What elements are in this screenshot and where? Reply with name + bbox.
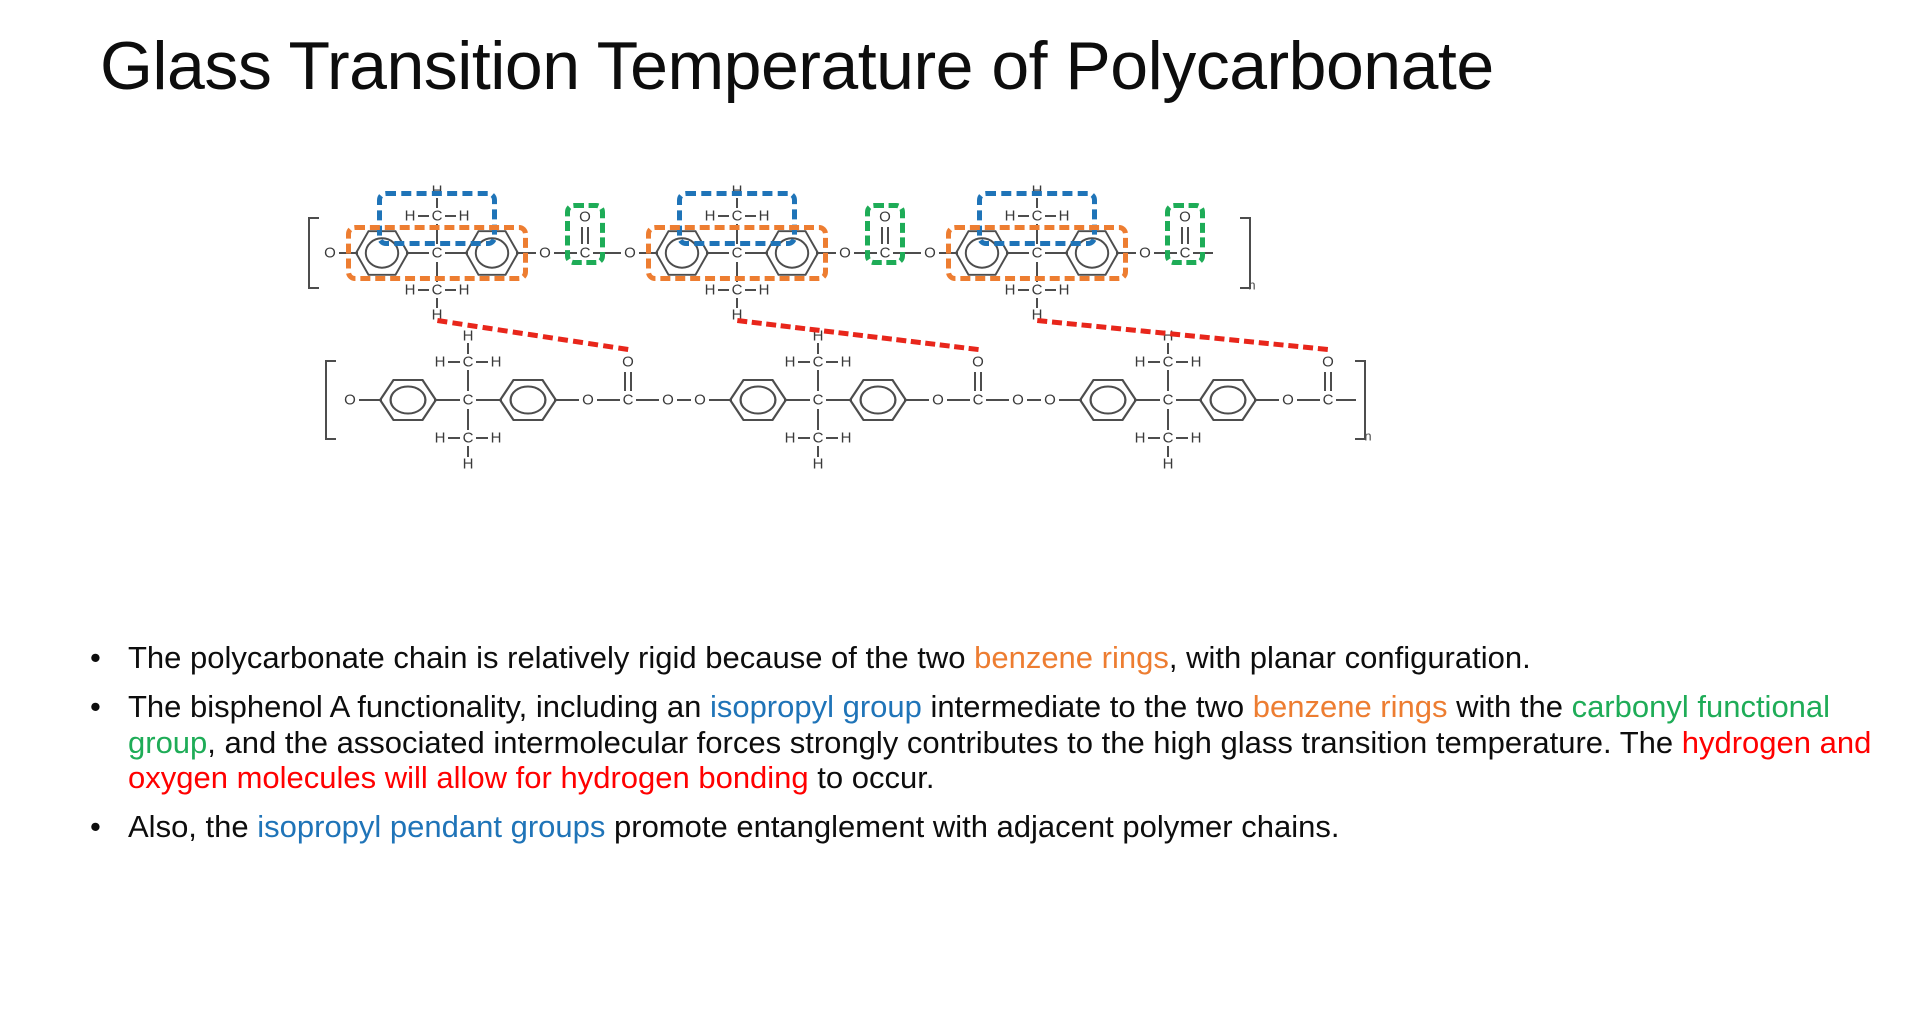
bond-h-c [1148, 361, 1160, 363]
atom-carbon-methyl: C [813, 355, 824, 370]
bond-c-h [1167, 446, 1169, 457]
bond-o-c [947, 399, 970, 401]
bond-o-c [1297, 399, 1320, 401]
bullet-text: with the [1448, 689, 1572, 724]
slide: Glass Transition Temperature of Polycarb… [0, 0, 1920, 1017]
atom-carbon-carbonyl: C [880, 246, 891, 261]
bullet-item: •The polycarbonate chain is relatively r… [82, 640, 1872, 675]
atom-carbon-quaternary: C [732, 246, 743, 261]
bullet-marker: • [90, 809, 101, 844]
atom-hydrogen: H [705, 283, 716, 298]
bond-ring-o [554, 399, 579, 401]
atom-carbon-quaternary: C [463, 393, 474, 408]
atom-hydrogen: H [1032, 184, 1043, 199]
atom-hydrogen: H [759, 283, 770, 298]
bond-c-o-next [1193, 252, 1213, 254]
page-title: Glass Transition Temperature of Polycarb… [100, 28, 1860, 104]
atom-hydrogen: H [405, 209, 416, 224]
bond-c-c [1036, 262, 1038, 282]
bond-double-a [581, 227, 583, 244]
benzene-ring [379, 378, 437, 422]
bond-c-h [1176, 437, 1188, 439]
benzene-ring [729, 378, 787, 422]
atom-carbon-methyl: C [432, 283, 443, 298]
atom-carbon-carbonyl: C [580, 246, 591, 261]
bond-o-c [1154, 252, 1177, 254]
atom-hydrogen: H [732, 184, 743, 199]
bond-c-c [467, 409, 469, 430]
bond-h-c [817, 343, 819, 354]
bond-c-h [745, 215, 756, 217]
bond-c-c [817, 409, 819, 430]
atom-hydrogen: H [813, 457, 824, 472]
atom-hydrogen: H [463, 329, 474, 344]
bond-c-h [467, 446, 469, 457]
bond-c-h [817, 446, 819, 457]
atom-carbon-methyl: C [732, 283, 743, 298]
bullet-text-highlight: benzene rings [1253, 689, 1448, 724]
benzene-ring [765, 229, 819, 277]
atom-carbon-carbonyl: C [1323, 393, 1334, 408]
bullet-text-highlight: isopropyl pendant groups [257, 809, 605, 844]
atom-oxygen-carbonyl: O [579, 210, 591, 225]
bond-ring-c [406, 252, 429, 254]
bond-c-o-next [893, 252, 921, 254]
bond-double-b [1330, 372, 1332, 391]
bond-o-c [554, 252, 577, 254]
bond-h-c [448, 361, 460, 363]
bond-ring-o [816, 252, 836, 254]
benzene-ring [1079, 378, 1137, 422]
atom-oxygen-ether: O [624, 246, 636, 261]
bond-c-c [467, 370, 469, 391]
bond-h-c [467, 343, 469, 354]
atom-hydrogen: H [759, 209, 770, 224]
benzene-ring [1065, 229, 1119, 277]
bullet-text: , with planar configuration. [1169, 640, 1531, 675]
atom-hydrogen: H [1191, 431, 1202, 446]
bond-h-c [448, 437, 460, 439]
bond-c-h [445, 289, 456, 291]
bond-o-c [597, 399, 620, 401]
atom-carbon-methyl: C [463, 355, 474, 370]
atom-hydrogen: H [491, 355, 502, 370]
benzene-ring [849, 378, 907, 422]
bond-double-b [1187, 227, 1189, 244]
bullet-text: to occur. [809, 760, 935, 795]
bond-ring-c [1134, 399, 1160, 401]
bond-c-o-next [593, 252, 621, 254]
atom-hydrogen: H [463, 457, 474, 472]
repeat-subscript-n: n [1364, 429, 1371, 444]
bond-h-c [418, 289, 429, 291]
bond-c-h [436, 298, 438, 308]
bullet-item: •Also, the isopropyl pendant groups prom… [82, 809, 1872, 844]
bond-ring-o [516, 252, 536, 254]
bond-double-a [974, 372, 976, 391]
atom-carbon-methyl: C [813, 431, 824, 446]
benzene-ring [1199, 378, 1257, 422]
benzene-ring [465, 229, 519, 277]
atom-hydrogen: H [432, 184, 443, 199]
atom-hydrogen: H [1059, 209, 1070, 224]
atom-carbon-quaternary: C [813, 393, 824, 408]
bond-c-c [736, 262, 738, 282]
atom-hydrogen: H [1135, 431, 1146, 446]
bond-ring-c [784, 399, 810, 401]
bond-h-c [1148, 437, 1160, 439]
bond-ring-o [904, 399, 929, 401]
atom-carbon-quaternary: C [1032, 246, 1043, 261]
atom-hydrogen: H [785, 431, 796, 446]
bullet-text: promote entanglement with adjacent polym… [605, 809, 1339, 844]
bond-h-c [798, 361, 810, 363]
bond-c-c [436, 224, 438, 244]
bond-h-c [1167, 343, 1169, 354]
atom-oxygen-ether: O [694, 393, 706, 408]
bond-ring-c [434, 399, 460, 401]
atom-oxygen-ether: O [582, 393, 594, 408]
bond-c-h [745, 289, 756, 291]
bond-c-h [476, 361, 488, 363]
bond-c-h [826, 437, 838, 439]
bond-c-c [1167, 409, 1169, 430]
bond-c-h [826, 361, 838, 363]
atom-hydrogen: H [435, 355, 446, 370]
bullet-list: •The polycarbonate chain is relatively r… [82, 640, 1872, 859]
atom-oxygen-carbonyl: O [622, 355, 634, 370]
atom-oxygen-carbonyl: O [1322, 355, 1334, 370]
polymer-bracket-open-bottom [325, 360, 336, 440]
atom-carbon-methyl: C [1163, 355, 1174, 370]
atom-oxygen-ether: O [1139, 246, 1151, 261]
bond-double-a [881, 227, 883, 244]
bond-double-a [624, 372, 626, 391]
bond-h-c [718, 289, 729, 291]
atom-carbon-methyl: C [1032, 209, 1043, 224]
bond-c-h [1176, 361, 1188, 363]
atom-oxygen-carbonyl: O [879, 210, 891, 225]
bond-o-o [677, 399, 691, 401]
atom-oxygen-carbonyl: O [1179, 210, 1191, 225]
atom-hydrogen: H [1005, 283, 1016, 298]
hydrogen-bond-dashed [1037, 318, 1328, 352]
atom-hydrogen: H [491, 431, 502, 446]
bond-h-c [1018, 215, 1029, 217]
bond-double-b [980, 372, 982, 391]
atom-carbon-methyl: C [1163, 431, 1174, 446]
atom-oxygen-ether: O [662, 393, 674, 408]
bond-c-c [436, 262, 438, 282]
polycarbonate-structure-figure: OCOHCHHHCHHCOOCOHCHHHCHHCOOCOHCHHHCHHCOn… [0, 150, 1920, 610]
atom-hydrogen: H [1059, 283, 1070, 298]
bullet-text-highlight: benzene rings [974, 640, 1169, 675]
bond-h-c [1018, 289, 1029, 291]
bond-double-b [887, 227, 889, 244]
bond-c-o [636, 399, 659, 401]
atom-carbon-methyl: C [732, 209, 743, 224]
bond-o-o [1027, 399, 1041, 401]
bond-double-a [1324, 372, 1326, 391]
atom-oxygen-ether: O [1012, 393, 1024, 408]
atom-carbon-carbonyl: C [623, 393, 634, 408]
bond-c-h [1036, 298, 1038, 308]
benzene-ring [499, 378, 557, 422]
atom-hydrogen: H [1005, 209, 1016, 224]
atom-hydrogen: H [435, 431, 446, 446]
bond-ring-c [1006, 252, 1029, 254]
bond-ring-o [1116, 252, 1136, 254]
atom-carbon-quaternary: C [1163, 393, 1174, 408]
atom-oxygen-ether: O [932, 393, 944, 408]
atom-carbon-carbonyl: C [1180, 246, 1191, 261]
bond-c-h [1045, 215, 1056, 217]
bond-c-h [1045, 289, 1056, 291]
atom-oxygen-ether: O [344, 393, 356, 408]
bullet-marker: • [90, 689, 101, 724]
hydrogen-bond-dashed [737, 318, 979, 352]
bond-o-c [854, 252, 877, 254]
atom-hydrogen: H [459, 283, 470, 298]
bond-c-c [1036, 224, 1038, 244]
atom-oxygen-ether: O [839, 246, 851, 261]
bond-double-a [1181, 227, 1183, 244]
bond-c-c [1167, 370, 1169, 391]
atom-hydrogen: H [1163, 457, 1174, 472]
benzene-ring [355, 229, 409, 277]
atom-oxygen-ether: O [1044, 393, 1056, 408]
bullet-item: •The bisphenol A functionality, includin… [82, 689, 1872, 795]
atom-hydrogen: H [459, 209, 470, 224]
atom-oxygen-ether: O [924, 246, 936, 261]
atom-oxygen-ether: O [324, 246, 336, 261]
atom-carbon-quaternary: C [432, 246, 443, 261]
atom-hydrogen: H [1191, 355, 1202, 370]
bullet-text: intermediate to the two [922, 689, 1253, 724]
atom-carbon-methyl: C [463, 431, 474, 446]
bond-h-c [418, 215, 429, 217]
atom-hydrogen: H [405, 283, 416, 298]
atom-hydrogen: H [705, 209, 716, 224]
bullet-text-highlight: isopropyl group [710, 689, 922, 724]
atom-hydrogen: H [841, 431, 852, 446]
benzene-ring [955, 229, 1009, 277]
atom-oxygen-carbonyl: O [972, 355, 984, 370]
bullet-marker: • [90, 640, 101, 675]
bullet-text: The polycarbonate chain is relatively ri… [128, 640, 974, 675]
bond-h-c [436, 198, 438, 208]
atom-oxygen-ether: O [1282, 393, 1294, 408]
bond-c-c [817, 370, 819, 391]
bond-double-b [587, 227, 589, 244]
bond-h-c [736, 198, 738, 208]
atom-carbon-carbonyl: C [973, 393, 984, 408]
polymer-bracket-open-top [308, 217, 319, 289]
bond-h-c [798, 437, 810, 439]
bond-ring-o [1254, 399, 1279, 401]
bullet-text: Also, the [128, 809, 257, 844]
atom-hydrogen: H [785, 355, 796, 370]
bullet-text: , and the associated intermolecular forc… [207, 725, 1681, 760]
bond-c-terminal [1336, 399, 1356, 401]
benzene-ring [655, 229, 709, 277]
bond-double-b [630, 372, 632, 391]
repeat-subscript-n: n [1248, 278, 1255, 293]
atom-oxygen-ether: O [539, 246, 551, 261]
bond-c-h [445, 215, 456, 217]
atom-hydrogen: H [1135, 355, 1146, 370]
atom-carbon-methyl: C [432, 209, 443, 224]
bond-c-h [736, 298, 738, 308]
bond-c-c [736, 224, 738, 244]
bond-ring-c [706, 252, 729, 254]
bond-h-c [718, 215, 729, 217]
bond-c-h [476, 437, 488, 439]
atom-hydrogen: H [841, 355, 852, 370]
bond-h-c [1036, 198, 1038, 208]
atom-carbon-methyl: C [1032, 283, 1043, 298]
bullet-text: The bisphenol A functionality, including… [128, 689, 710, 724]
bond-c-o [986, 399, 1009, 401]
